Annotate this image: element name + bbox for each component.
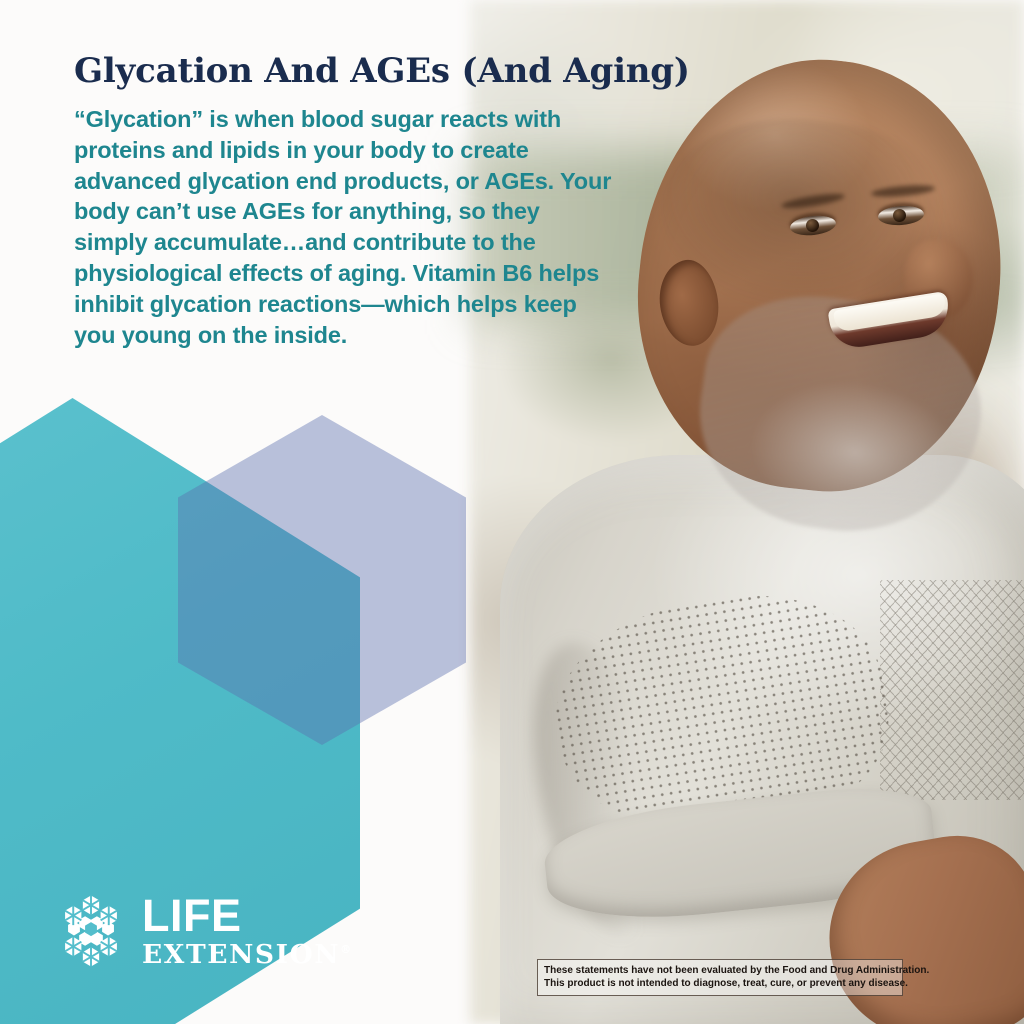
disclaimer-line-1: These statements have not been evaluated… bbox=[544, 964, 896, 977]
promo-card: Glycation And AGEs (And Aging) “Glycatio… bbox=[0, 0, 1024, 1024]
copy-block: Glycation And AGEs (And Aging) “Glycatio… bbox=[74, 52, 614, 350]
disclaimer-line-2: This product is not intended to diagnose… bbox=[544, 977, 896, 990]
body-paragraph: “Glycation” is when blood sugar reacts w… bbox=[74, 104, 614, 350]
life-extension-hexagon-snowflake-icon bbox=[54, 894, 128, 968]
fda-disclaimer-box: These statements have not been evaluated… bbox=[537, 959, 903, 996]
logo-word-extension-text: EXTENSION bbox=[142, 939, 340, 970]
brand-logo[interactable]: LIFE EXTENSION® bbox=[54, 893, 351, 969]
registered-trademark-icon: ® bbox=[340, 943, 351, 956]
logo-wordmark: LIFE EXTENSION® bbox=[142, 893, 351, 969]
logo-word-life: LIFE bbox=[142, 893, 351, 938]
logo-word-extension: EXTENSION® bbox=[142, 942, 351, 969]
page-title: Glycation And AGEs (And Aging) bbox=[74, 52, 614, 90]
